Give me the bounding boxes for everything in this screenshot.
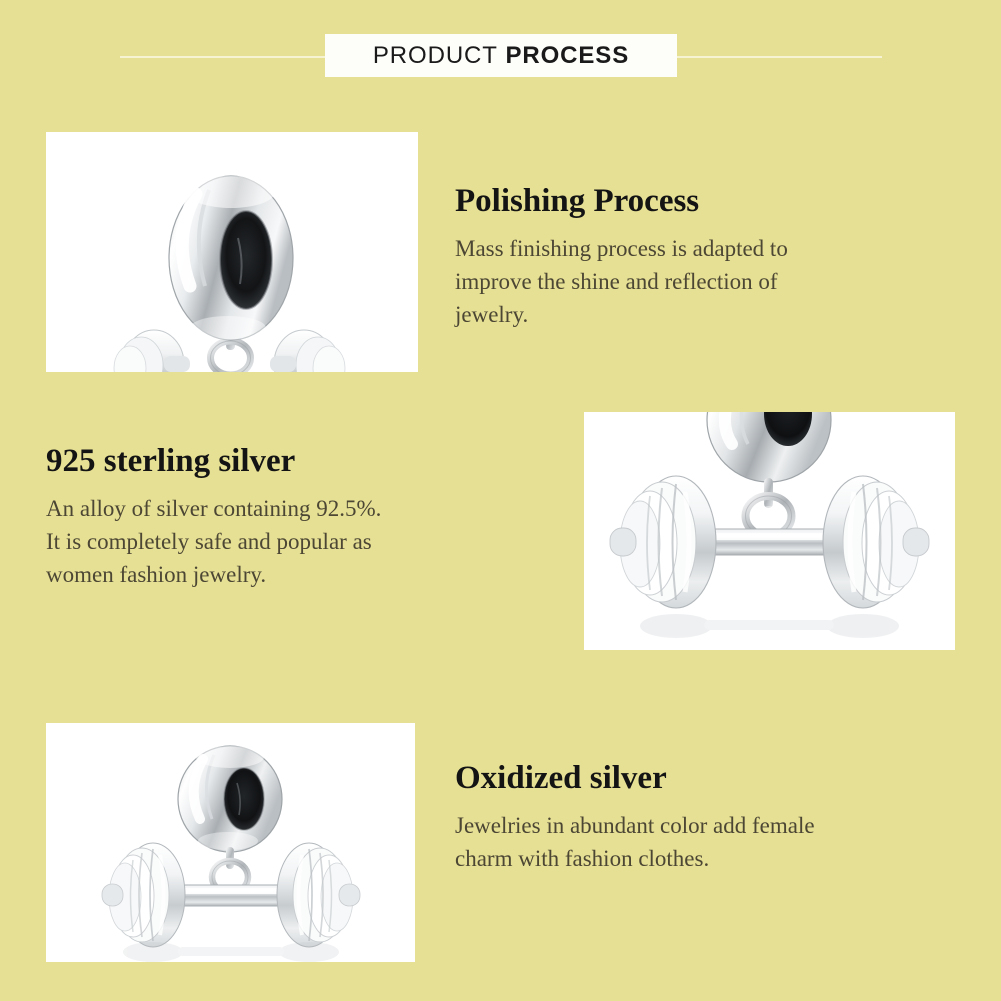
product-photo-sterling-silver — [584, 412, 955, 650]
product-photo-oxidized-silver — [46, 723, 415, 962]
body-line: improve the shine and reflection of — [455, 266, 955, 299]
page-title-bold: PROCESS — [505, 42, 629, 69]
body-line: women fashion jewelry. — [46, 559, 546, 592]
section-oxidized-silver: Oxidized silver Jewelries in abundant co… — [455, 760, 955, 876]
page-title: PRODUCT PROCESS — [373, 42, 629, 70]
body-line: jewelry. — [455, 299, 955, 332]
section-heading: Oxidized silver — [455, 760, 955, 796]
silver-charm-bead-closeup-illustration — [46, 132, 418, 372]
body-line: An alloy of silver containing 92.5%. — [46, 493, 546, 526]
page-title-light: PRODUCT — [373, 42, 498, 69]
section-body: Mass finishing process is adapted to imp… — [455, 233, 955, 331]
section-sterling-silver: 925 sterling silver An alloy of silver c… — [46, 443, 546, 591]
silver-dumbbell-charm-full-illustration — [46, 723, 415, 962]
body-line: It is completely safe and popular as — [46, 526, 546, 559]
section-heading: 925 sterling silver — [46, 443, 546, 479]
body-line: charm with fashion clothes. — [455, 843, 955, 876]
page-header: PRODUCT PROCESS — [0, 0, 1001, 110]
section-heading: Polishing Process — [455, 183, 955, 219]
header-banner: PRODUCT PROCESS — [325, 34, 677, 77]
section-body: An alloy of silver containing 92.5%. It … — [46, 493, 546, 591]
section-body: Jewelries in abundant color add female c… — [455, 810, 955, 875]
section-polishing-process: Polishing Process Mass finishing process… — [455, 183, 955, 331]
charm-bead — [169, 176, 293, 340]
product-photo-polishing — [46, 132, 418, 372]
body-line: Jewelries in abundant color add female — [455, 810, 955, 843]
silver-dumbbell-charm-closeup-illustration — [584, 412, 955, 650]
body-line: Mass finishing process is adapted to — [455, 233, 955, 266]
charm-bead — [178, 746, 282, 852]
